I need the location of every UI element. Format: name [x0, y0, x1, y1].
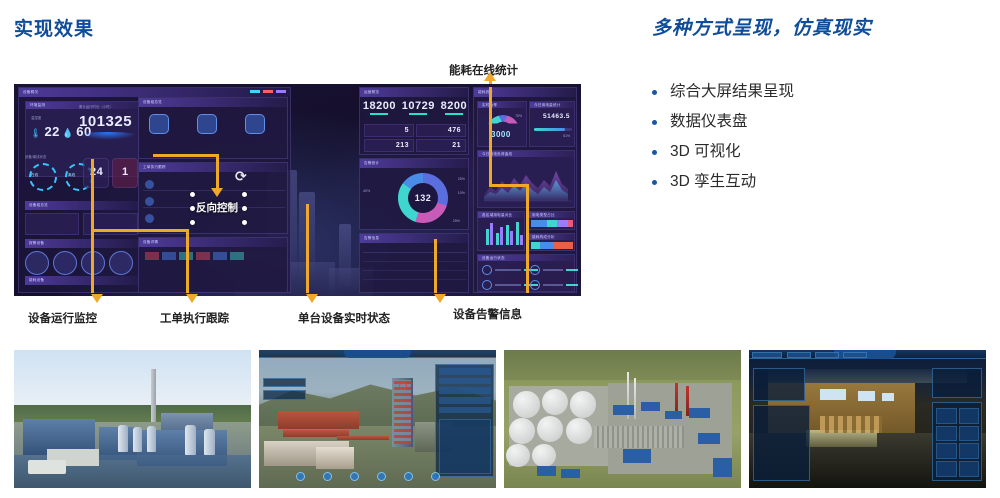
thumbnail-refinery-aerial-view[interactable]	[504, 350, 741, 488]
card-runtime-counter: 累计运行时长（小时） 101325	[79, 104, 137, 144]
bullet-icon	[652, 180, 657, 185]
thumbnail-strip	[14, 350, 986, 488]
donut-center-value: 132	[415, 193, 432, 203]
env-sublabel: 温湿度	[31, 115, 41, 120]
bullet-icon	[652, 90, 657, 95]
table-row	[363, 264, 467, 271]
thumbnail-warehouse-night-twin[interactable]	[749, 350, 986, 488]
card-title: 环境监测	[30, 103, 45, 108]
list-item: 综合大屏结果呈现	[652, 77, 982, 107]
summary-stat: 21	[416, 139, 466, 152]
counter-value: 101325	[79, 113, 132, 130]
callout-arrow-3	[306, 294, 318, 303]
list-item: 3D 孪生互动	[652, 167, 982, 197]
callout-label-3: 单台设备实时状态	[298, 310, 390, 326]
connector-energy-inner-v	[526, 184, 529, 293]
panel-header: 设备详情	[139, 238, 287, 247]
summary-big-values: 18200 10729 8200	[360, 100, 470, 115]
connector-device-monitor	[91, 159, 94, 293]
selection-handle[interactable]	[190, 206, 195, 211]
device-group-item	[25, 213, 79, 235]
inner-connector-v	[216, 154, 219, 190]
slide-root: 实现效果 多种方式呈现，仿真现实 综合大屏结果呈现 数据仪表盘 3D 可视化 3…	[0, 0, 1000, 498]
callout-arrow-up-energy	[484, 72, 496, 81]
callout-arrow-2	[186, 294, 198, 303]
summary-stat: 213	[364, 139, 414, 152]
donut-legend-right-2: 10%	[458, 191, 465, 195]
callout-label-1: 设备运行监控	[28, 310, 97, 326]
summary-value: 8200	[441, 100, 467, 112]
callout-label-2: 工单执行跟踪	[160, 310, 229, 326]
stat-offline: 1	[112, 158, 138, 188]
device-icon-row	[149, 114, 265, 134]
panel-summary: 运营概览 18200 10729 8200 5 4	[359, 87, 469, 155]
device-chip-grid	[145, 252, 283, 260]
summary-value: 10729	[402, 100, 435, 112]
panel-header-device-group: 设备组总览	[25, 201, 138, 210]
progress-track	[534, 128, 572, 131]
card-target: 今日用电量统计 51463.5 81%	[529, 101, 575, 147]
summary-stat: 5	[364, 124, 414, 137]
feature-list: 综合大屏结果呈现 数据仪表盘 3D 可视化 3D 孪生互动	[652, 77, 982, 197]
inner-connector-h	[153, 154, 219, 157]
stat-online: 24	[83, 158, 109, 188]
list-item-label: 综合大屏结果呈现	[670, 84, 794, 100]
alarm-icon-row	[25, 251, 133, 275]
callout-label-reverse-control: 反向控制	[196, 200, 238, 215]
list-item: 数据仪表盘	[652, 107, 982, 137]
connector-energy-inner	[489, 87, 492, 187]
table-header-row	[363, 246, 467, 253]
panel-device-group: 设备组总览	[138, 97, 288, 159]
table-row	[363, 255, 467, 262]
status-row	[530, 280, 578, 290]
panel-header: 设备组总览	[139, 98, 287, 107]
selection-handle[interactable]	[242, 220, 247, 225]
progress-label: 81%	[563, 134, 570, 138]
counter-label: 累计运行时长（小时）	[79, 104, 113, 109]
gauge-max-label: 75%	[515, 114, 522, 118]
connector-device-status	[306, 204, 309, 293]
status-row	[530, 265, 578, 275]
progress-fill	[534, 128, 565, 131]
panel-header: 告警信息	[360, 234, 468, 243]
summary-value: 18200	[363, 100, 396, 112]
bar-chart	[484, 221, 524, 245]
dashboard-screenshot: 设备概况 环境监测 温湿度 🌡 22 💧 60	[14, 84, 581, 296]
list-item-label: 3D 可视化	[670, 144, 741, 160]
env-temp: 🌡 22	[30, 124, 60, 139]
panel-device-detail: 设备详情	[138, 237, 288, 293]
stacked-bar	[531, 242, 573, 249]
connector-workorder	[186, 229, 189, 293]
panel-workorder: 工单执行跟踪	[138, 162, 288, 234]
panel-header: 工单执行跟踪	[139, 163, 287, 172]
summary-stat: 476	[416, 124, 466, 137]
target-value: 51463.5	[543, 113, 570, 120]
callout-arrow-4	[434, 294, 446, 303]
list-item: 3D 可视化	[652, 137, 982, 167]
selection-handle[interactable]	[242, 206, 247, 211]
donut-legend-right-1: 25%	[458, 177, 465, 181]
connector-alarm-info	[434, 239, 437, 293]
connector-energy-inner-h	[489, 184, 529, 187]
donut-legend-bottom: 25%	[453, 219, 460, 223]
thumbnail-cement-plant-digital-twin[interactable]	[259, 350, 496, 488]
panel-header-energy-list: 能耗设备	[25, 276, 138, 285]
panel-alarm-donut: 告警统计 132 40% 25% 10% 25%	[359, 158, 469, 230]
card-gauge: 实时功率 3000 75%	[477, 101, 527, 147]
page-title-right: 多种方式呈现，仿真现实	[652, 13, 872, 40]
donut-legend-left: 40%	[363, 189, 370, 193]
bullet-icon	[652, 120, 657, 125]
card-region-bars: 各区域用电量对比	[477, 211, 525, 251]
inner-arrow-down	[211, 188, 223, 197]
page-title-left: 实现效果	[14, 14, 94, 41]
donut-chart: 132	[398, 173, 448, 223]
selection-handle[interactable]	[242, 192, 247, 197]
list-item-label: 数据仪表盘	[670, 114, 748, 130]
selection-handle[interactable]	[190, 220, 195, 225]
table-row	[363, 282, 467, 289]
bullet-icon	[652, 150, 657, 155]
panel-alarm-table: 告警信息	[359, 233, 469, 293]
thumbnail-plant-3d-render[interactable]	[14, 350, 251, 488]
selection-handle[interactable]	[190, 192, 195, 197]
legend-group	[250, 90, 286, 93]
list-item-label: 3D 孪生互动	[670, 174, 756, 190]
panel-header-alarms: 报警设备	[25, 239, 138, 248]
panel-title: 设备概况	[23, 90, 38, 95]
card-energy-composition: 能耗构成分析	[527, 233, 575, 251]
table-row	[363, 273, 467, 280]
gauge-value: 3000	[491, 130, 511, 139]
connector-device-monitor-h	[91, 229, 189, 232]
panel-header: 运营概览	[360, 88, 468, 97]
callout-label-4: 设备告警信息	[453, 306, 522, 322]
stacked-bar	[531, 220, 573, 227]
card-usage-type: 用电类型占比	[527, 211, 575, 230]
refresh-icon[interactable]: ⟳	[235, 168, 247, 185]
callout-arrow-1	[91, 294, 103, 303]
panel-header: 告警统计	[360, 159, 468, 168]
